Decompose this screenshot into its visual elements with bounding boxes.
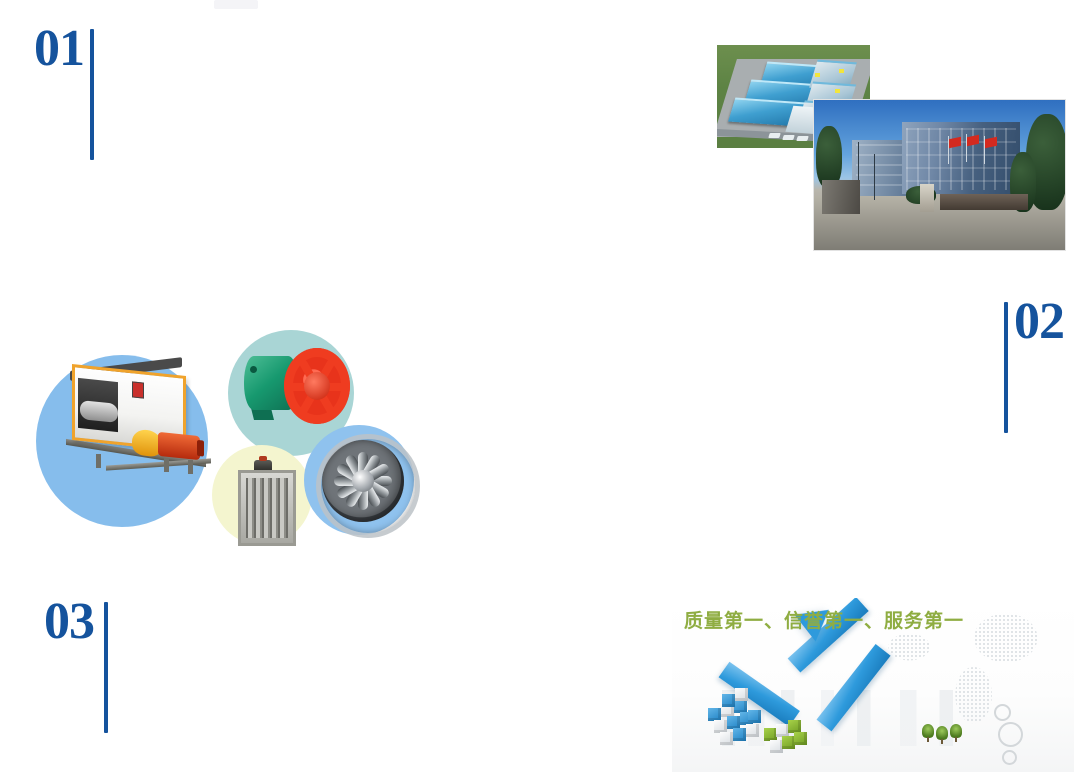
bubble-circle-icon [994, 704, 1011, 721]
bubble-circle-icon [998, 722, 1023, 747]
section-number-03: 03 [44, 597, 94, 646]
photo-tree [816, 126, 842, 188]
section-marker-03: 03 [44, 597, 108, 733]
cabinet-fan-leg [96, 454, 101, 468]
growth-arrow-banner: 质量第一、信誉第一、服务第一 [672, 598, 1074, 772]
model-vehicle [782, 135, 795, 140]
photo-side-building [852, 140, 908, 196]
tree-icon [950, 724, 962, 738]
cabinet-fan-leg [164, 458, 169, 472]
section-number-01: 01 [34, 24, 84, 73]
promo-slogan-text: 质量第一、信誉第一、服务第一 [684, 606, 964, 633]
section-number-02: 02 [1014, 297, 1064, 346]
cabinet-fan-control-panel [132, 381, 144, 398]
impeller-outer-shroud-ring [316, 434, 420, 538]
section-rule-02 [1004, 302, 1008, 433]
section-marker-01: 01 [34, 24, 94, 160]
photo-gatehouse [822, 180, 860, 214]
page-top-artifact [214, 0, 258, 9]
page-canvas: 01 [0, 0, 1074, 772]
air-damper-valve-image [238, 470, 296, 546]
cabinet-fan-leg [188, 460, 193, 474]
section-rule-03 [104, 602, 108, 733]
photo-gate-pillar [920, 184, 934, 212]
section-marker-02: 02 [1004, 297, 1064, 433]
model-marker-dot [839, 69, 844, 73]
product-image-cluster [36, 330, 426, 545]
model-vehicle [796, 136, 809, 141]
section-rule-01 [90, 29, 94, 160]
photo-retaining-wall [940, 194, 1028, 210]
cabinet-fan-motor [158, 432, 200, 460]
photo-utility-pole [874, 154, 875, 200]
office-building-photo [814, 100, 1065, 250]
bubble-circle-icon [1002, 750, 1017, 765]
model-marker-dot [815, 73, 820, 77]
tree-icon [936, 726, 948, 740]
model-marker-dot [835, 89, 840, 93]
axial-fan-hub [304, 372, 330, 400]
model-vehicle [768, 133, 781, 138]
tree-icon [922, 724, 934, 738]
